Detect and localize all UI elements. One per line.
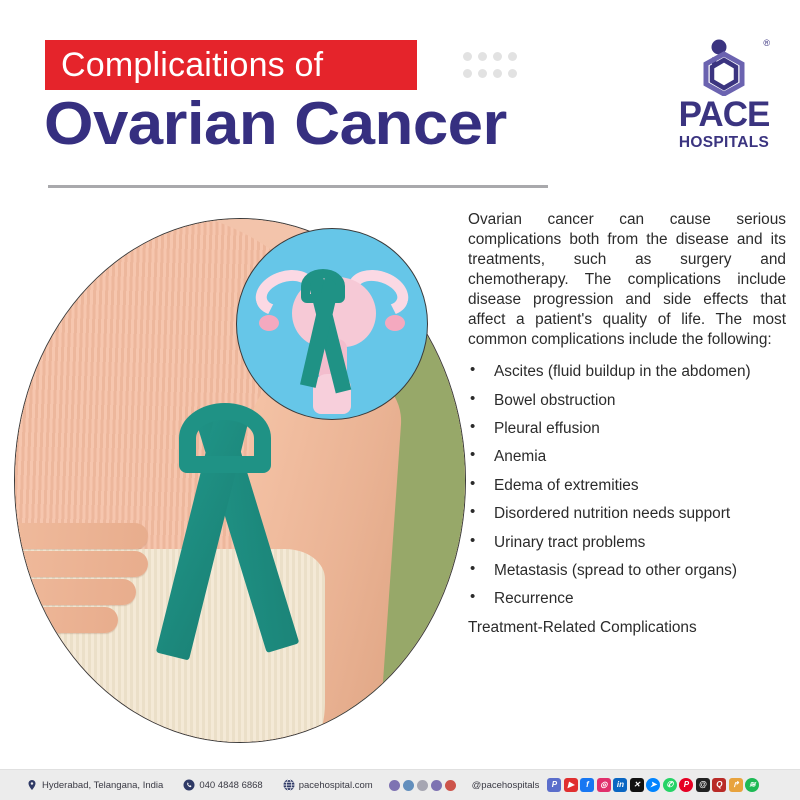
quora-icon[interactable]: Q — [712, 778, 726, 792]
list-item: Bowel obstruction — [468, 391, 786, 410]
inset-ribbon-icon — [299, 269, 369, 399]
hero-photo — [14, 218, 466, 743]
dot-grid-decoration-icon — [463, 52, 523, 86]
treatment-related-note: Treatment-Related Complications — [468, 618, 786, 637]
footer-location-text: Hyderabad, Telangana, India — [42, 780, 163, 791]
contact-footer-bar: Hyderabad, Telangana, India 040 4848 686… — [0, 769, 800, 800]
social-handle: @pacehospitals — [472, 780, 540, 791]
content-column: Ovarian cancer can cause serious complic… — [468, 210, 786, 637]
facebook-icon[interactable]: f — [580, 778, 594, 792]
list-item: Disordered nutrition needs support — [468, 504, 786, 523]
logo-subtitle: HOSPITALS — [668, 135, 780, 151]
complications-list: Ascites (fluid buildup in the abdomen) B… — [468, 362, 786, 609]
globe-icon — [283, 779, 295, 791]
awareness-ribbon-icon — [155, 409, 335, 709]
list-item: Pleural effusion — [468, 419, 786, 438]
list-item: Urinary tract problems — [468, 533, 786, 552]
list-item: Ascites (fluid buildup in the abdomen) — [468, 362, 786, 381]
page-title: Ovarian Cancer — [44, 93, 507, 154]
footer-phone[interactable]: 040 4848 6868 — [183, 779, 262, 791]
practo-icon[interactable]: P — [547, 778, 561, 792]
header-eyebrow-text: Complicaitions of — [45, 46, 323, 85]
accreditation-badges — [389, 780, 456, 791]
list-item: Anemia — [468, 447, 786, 466]
whatsapp-icon[interactable]: ✆ — [663, 778, 677, 792]
ovary-left-icon — [259, 315, 279, 331]
threads-icon[interactable]: @ — [696, 778, 710, 792]
infographic-canvas: Complicaitions of Ovarian Cancer ® PACE … — [0, 0, 800, 800]
sharechat-icon[interactable]: ↱ — [729, 778, 743, 792]
ovary-right-icon — [385, 315, 405, 331]
messenger-icon[interactable]: ➤ — [646, 778, 660, 792]
photo-hand — [14, 519, 170, 654]
footer-website[interactable]: pacehospital.com — [283, 779, 373, 791]
list-item: Metastasis (spread to other organs) — [468, 561, 786, 580]
registered-trademark-symbol: ® — [763, 38, 770, 48]
pinterest-icon[interactable]: P — [679, 778, 693, 792]
social-media-links: P ▶ f ◎ in ✕ ➤ ✆ P @ Q ↱ ≋ — [547, 778, 759, 792]
uterus-inset-circle — [236, 228, 428, 420]
brand-logo[interactable]: ® PACE HOSPITALS — [668, 38, 780, 156]
logo-wordmark: PACE — [668, 97, 780, 132]
intro-paragraph: Ovarian cancer can cause serious complic… — [468, 210, 786, 350]
footer-website-text: pacehospital.com — [299, 780, 373, 791]
header-divider — [48, 185, 548, 188]
linkedin-icon[interactable]: in — [613, 778, 627, 792]
nabl-badge-icon — [403, 780, 414, 791]
map-pin-icon — [26, 779, 38, 791]
hexagon-person-icon: ® — [668, 38, 780, 96]
list-item: Recurrence — [468, 589, 786, 608]
phone-icon — [183, 779, 195, 791]
footer-location: Hyderabad, Telangana, India — [26, 779, 163, 791]
youtube-icon[interactable]: ▶ — [564, 778, 578, 792]
iso-badge-icon — [431, 780, 442, 791]
spotify-icon[interactable]: ≋ — [745, 778, 759, 792]
aha-badge-icon — [445, 780, 456, 791]
header-eyebrow-banner: Complicaitions of — [45, 40, 417, 90]
instagram-icon[interactable]: ◎ — [597, 778, 611, 792]
nabh-badge-icon — [389, 780, 400, 791]
x-twitter-icon[interactable]: ✕ — [630, 778, 644, 792]
jci-badge-icon — [417, 780, 428, 791]
list-item: Edema of extremities — [468, 476, 786, 495]
footer-phone-text: 040 4848 6868 — [199, 780, 262, 791]
